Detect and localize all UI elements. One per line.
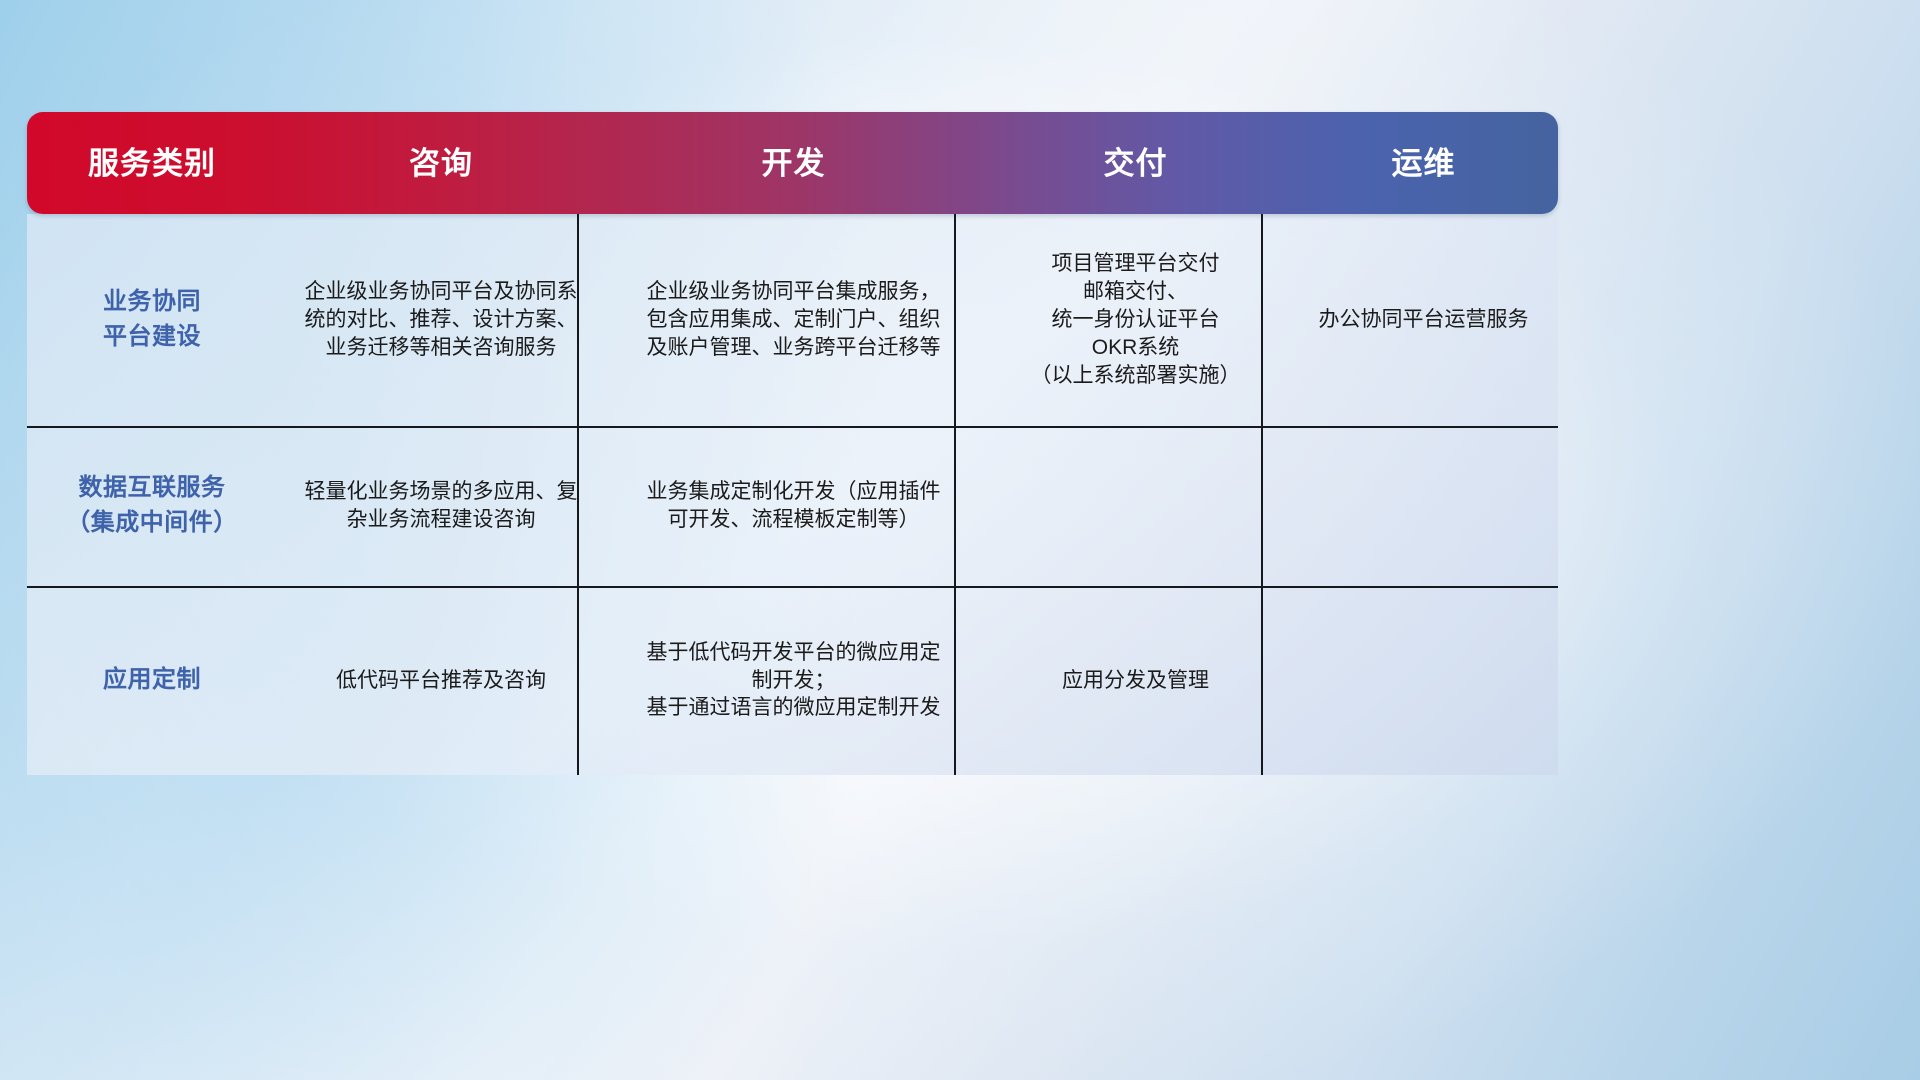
table-row: 应用定制 低代码平台推荐及咨询 基于低代码开发平台的微应用定 制开发； 基于通过… [27, 586, 1558, 775]
cell-delivery-3: 应用分发及管理 [982, 586, 1289, 775]
cell-development-3: 基于低代码开发平台的微应用定 制开发； 基于通过语言的微应用定制开发 [605, 586, 982, 775]
header-cell-consulting: 咨询 [277, 148, 605, 179]
column-divider-delivery-operations [1261, 214, 1263, 775]
column-divider-development-delivery [954, 214, 956, 775]
cell-development-2: 业务集成定制化开发（应用插件 可开发、流程模板定制等） [605, 426, 982, 586]
cell-operations-1: 办公协同平台运营服务 [1289, 214, 1558, 426]
table-header-row: 服务类别 咨询 开发 交付 运维 [27, 112, 1558, 214]
cell-consulting-2: 轻量化业务场景的多应用、复 杂业务流程建设咨询 [277, 426, 605, 586]
cell-category-3: 应用定制 [27, 586, 277, 775]
slide-canvas: 服务类别 咨询 开发 交付 运维 业务协同 平台建设 企业级业务协同平台及协同系… [0, 0, 1920, 1080]
cell-consulting-1: 企业级业务协同平台及协同系 统的对比、推荐、设计方案、 业务迁移等相关咨询服务 [277, 214, 605, 426]
header-cell-service-category: 服务类别 [27, 148, 277, 179]
cell-delivery-2 [982, 426, 1289, 586]
table-row: 数据互联服务 （集成中间件） 轻量化业务场景的多应用、复 杂业务流程建设咨询 业… [27, 426, 1558, 586]
cell-operations-3 [1289, 586, 1558, 775]
cell-delivery-1: 项目管理平台交付 邮箱交付、 统一身份认证平台 OKR系统 （以上系统部署实施） [982, 214, 1289, 426]
cell-category-1: 业务协同 平台建设 [27, 214, 277, 426]
cell-operations-2 [1289, 426, 1558, 586]
cell-consulting-3: 低代码平台推荐及咨询 [277, 586, 605, 775]
header-cell-delivery: 交付 [982, 148, 1289, 179]
table-body: 业务协同 平台建设 企业级业务协同平台及协同系 统的对比、推荐、设计方案、 业务… [27, 214, 1558, 775]
service-matrix-table: 服务类别 咨询 开发 交付 运维 业务协同 平台建设 企业级业务协同平台及协同系… [27, 112, 1558, 775]
table-row: 业务协同 平台建设 企业级业务协同平台及协同系 统的对比、推荐、设计方案、 业务… [27, 214, 1558, 426]
column-divider-consulting-development [577, 214, 579, 775]
cell-category-2: 数据互联服务 （集成中间件） [27, 426, 277, 586]
row-divider-2 [27, 586, 1558, 588]
header-cell-operations: 运维 [1289, 148, 1558, 179]
header-cell-development: 开发 [605, 148, 982, 179]
cell-development-1: 企业级业务协同平台集成服务， 包含应用集成、定制门户、组织 及账户管理、业务跨平… [605, 214, 982, 426]
row-divider-1 [27, 426, 1558, 428]
